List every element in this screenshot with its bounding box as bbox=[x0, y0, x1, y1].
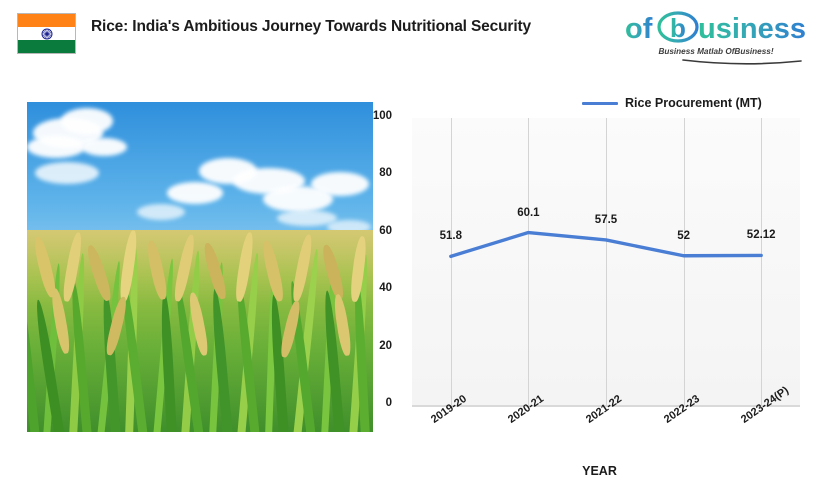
y-axis-tick: 40 bbox=[332, 282, 392, 294]
y-axis-tick: 0 bbox=[332, 397, 392, 409]
india-flag-icon bbox=[17, 13, 76, 54]
logo-underline-swoosh bbox=[681, 58, 803, 66]
paddy-field-region bbox=[27, 230, 373, 432]
data-point-label: 57.5 bbox=[595, 214, 617, 226]
svg-text:usiness: usiness bbox=[698, 13, 806, 45]
y-axis-tick: 60 bbox=[332, 225, 392, 237]
data-point-label: 52.12 bbox=[747, 229, 776, 241]
chart-legend[interactable]: Rice Procurement (MT) bbox=[582, 94, 762, 112]
svg-text:b: b bbox=[670, 13, 686, 43]
page-header: Rice: India's Ambitious Journey Towards … bbox=[0, 0, 823, 82]
rice-field-photo bbox=[27, 102, 373, 432]
legend-label: Rice Procurement (MT) bbox=[625, 96, 762, 110]
ofbusiness-logo: of b usiness Business Matlab OfBusiness! bbox=[623, 8, 809, 66]
y-axis-tick: 80 bbox=[332, 167, 392, 179]
page-title: Rice: India's Ambitious Journey Towards … bbox=[91, 18, 531, 36]
svg-text:of: of bbox=[625, 13, 653, 45]
data-point-label: 52 bbox=[677, 230, 690, 242]
logo-tagline: Business Matlab OfBusiness! bbox=[623, 47, 809, 56]
x-axis-title: YEAR bbox=[376, 464, 823, 478]
data-point-label: 51.8 bbox=[440, 230, 462, 242]
y-axis-tick: 20 bbox=[332, 340, 392, 352]
line-series bbox=[412, 118, 800, 405]
data-point-label: 60.1 bbox=[517, 207, 539, 219]
y-axis-tick: 100 bbox=[332, 110, 392, 122]
ofbusiness-wordmark: of b usiness bbox=[623, 10, 809, 46]
legend-line-swatch bbox=[582, 102, 618, 105]
rice-procurement-chart: Rice Procurement (MT) 020406080100 51.86… bbox=[376, 86, 823, 487]
ashoka-chakra-icon bbox=[41, 28, 53, 40]
